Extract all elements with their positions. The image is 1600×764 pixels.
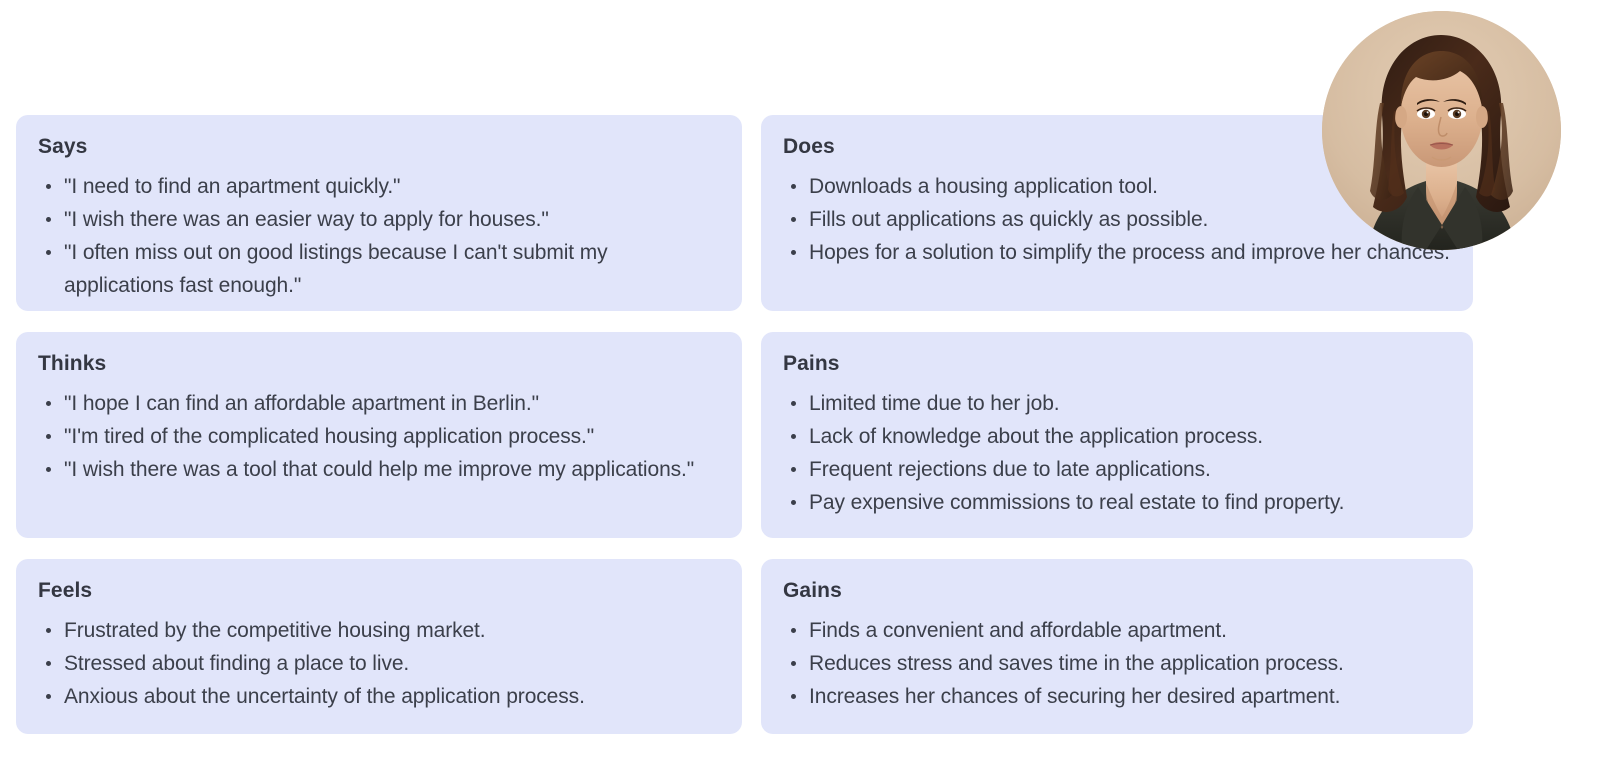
list-item-text: "I wish there was an easier way to apply…: [64, 208, 549, 231]
list-item-text: "I need to find an apartment quickly.": [64, 175, 400, 198]
bullet-icon: [791, 401, 796, 406]
bullet-icon: [46, 628, 51, 633]
card-list-says: "I need to find an apartment quickly." "…: [38, 170, 720, 302]
card-list-thinks: "I hope I can find an affordable apartme…: [38, 387, 720, 486]
bullet-icon: [791, 217, 796, 222]
list-item-text: Downloads a housing application tool.: [809, 175, 1158, 198]
list-item-text: Frequent rejections due to late applicat…: [809, 458, 1211, 481]
bullet-icon: [791, 661, 796, 666]
list-item-text: Hopes for a solution to simplify the pro…: [809, 241, 1450, 264]
empathy-map-grid: Says "I need to find an apartment quickl…: [16, 115, 1473, 734]
list-item-text: Reduces stress and saves time in the app…: [809, 652, 1344, 675]
list-item: Lack of knowledge about the application …: [783, 420, 1451, 453]
bullet-icon: [46, 184, 51, 189]
avatar: [1322, 11, 1561, 250]
list-item-text: "I'm tired of the complicated housing ap…: [64, 425, 594, 448]
list-item-text: "I often miss out on good listings becau…: [64, 241, 608, 297]
card-says: Says "I need to find an apartment quickl…: [16, 115, 742, 311]
list-item: Pay expensive commissions to real estate…: [783, 486, 1451, 519]
card-title-thinks: Thinks: [38, 352, 720, 376]
card-title-gains: Gains: [783, 579, 1451, 603]
list-item-text: Stressed about finding a place to live.: [64, 652, 409, 675]
card-list-pains: Limited time due to her job. Lack of kno…: [783, 387, 1451, 519]
bullet-icon: [791, 467, 796, 472]
list-item: Increases her chances of securing her de…: [783, 680, 1451, 713]
list-item: Finds a convenient and affordable apartm…: [783, 614, 1451, 647]
list-item-text: Pay expensive commissions to real estate…: [809, 491, 1344, 514]
list-item: Limited time due to her job.: [783, 387, 1451, 420]
list-item: "I need to find an apartment quickly.": [38, 170, 720, 203]
list-item-text: "I hope I can find an affordable apartme…: [64, 392, 539, 415]
list-item-text: Anxious about the uncertainty of the app…: [64, 685, 585, 708]
list-item: "I often miss out on good listings becau…: [38, 236, 720, 302]
list-item: Frustrated by the competitive housing ma…: [38, 614, 720, 647]
list-item-text: "I wish there was a tool that could help…: [64, 458, 694, 481]
bullet-icon: [46, 250, 51, 255]
card-pains: Pains Limited time due to her job. Lack …: [761, 332, 1473, 538]
card-list-feels: Frustrated by the competitive housing ma…: [38, 614, 720, 713]
bullet-icon: [791, 628, 796, 633]
card-feels: Feels Frustrated by the competitive hous…: [16, 559, 742, 734]
list-item: "I'm tired of the complicated housing ap…: [38, 420, 720, 453]
list-item: Frequent rejections due to late applicat…: [783, 453, 1451, 486]
card-title-pains: Pains: [783, 352, 1451, 376]
list-item-text: Lack of knowledge about the application …: [809, 425, 1263, 448]
avatar-portrait-icon: [1322, 11, 1561, 250]
list-item: Hopes for a solution to simplify the pro…: [783, 236, 1451, 269]
bullet-icon: [46, 694, 51, 699]
bullet-icon: [46, 661, 51, 666]
list-item: "I wish there was a tool that could help…: [38, 453, 720, 486]
list-item-text: Finds a convenient and affordable apartm…: [809, 619, 1227, 642]
list-item-text: Limited time due to her job.: [809, 392, 1060, 415]
card-thinks: Thinks "I hope I can find an affordable …: [16, 332, 742, 538]
list-item-text: Increases her chances of securing her de…: [809, 685, 1340, 708]
bullet-icon: [791, 184, 796, 189]
list-item-text: Frustrated by the competitive housing ma…: [64, 619, 486, 642]
bullet-icon: [46, 434, 51, 439]
list-item: Anxious about the uncertainty of the app…: [38, 680, 720, 713]
card-title-feels: Feels: [38, 579, 720, 603]
card-gains: Gains Finds a convenient and affordable …: [761, 559, 1473, 734]
list-item: Stressed about finding a place to live.: [38, 647, 720, 680]
bullet-icon: [791, 500, 796, 505]
bullet-icon: [791, 250, 796, 255]
bullet-icon: [791, 434, 796, 439]
bullet-icon: [46, 467, 51, 472]
bullet-icon: [46, 401, 51, 406]
list-item: Reduces stress and saves time in the app…: [783, 647, 1451, 680]
list-item: "I hope I can find an affordable apartme…: [38, 387, 720, 420]
empathy-map-board: Says "I need to find an apartment quickl…: [0, 0, 1600, 764]
bullet-icon: [791, 694, 796, 699]
list-item-text: Fills out applications as quickly as pos…: [809, 208, 1208, 231]
list-item: "I wish there was an easier way to apply…: [38, 203, 720, 236]
card-list-gains: Finds a convenient and affordable apartm…: [783, 614, 1451, 713]
card-title-says: Says: [38, 135, 720, 159]
bullet-icon: [46, 217, 51, 222]
